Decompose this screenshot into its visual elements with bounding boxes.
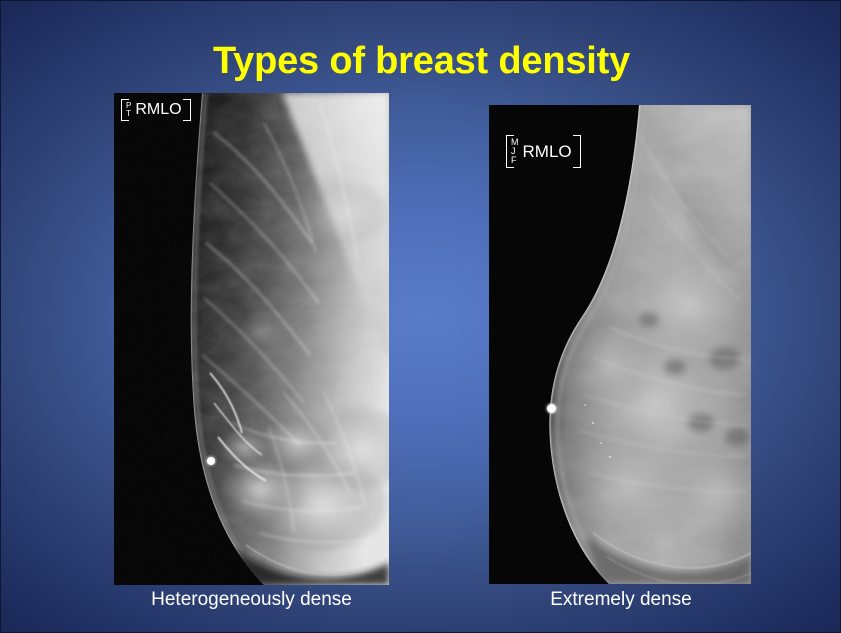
mammogram-right-graphic bbox=[489, 105, 751, 584]
caption-right: Extremely dense bbox=[501, 589, 741, 612]
caption-left: Heterogeneously dense bbox=[89, 589, 414, 612]
page-title: Types of breast density bbox=[1, 41, 841, 83]
mammogram-left-graphic bbox=[114, 93, 389, 585]
mammogram-image-right[interactable]: M J F RMLO bbox=[489, 105, 751, 584]
presentation-slide: Types of breast density bbox=[0, 0, 841, 633]
nipple-marker-dot bbox=[547, 404, 556, 413]
mammogram-image-left[interactable]: P T RMLO bbox=[114, 93, 389, 585]
nipple-marker-dot bbox=[207, 457, 215, 465]
